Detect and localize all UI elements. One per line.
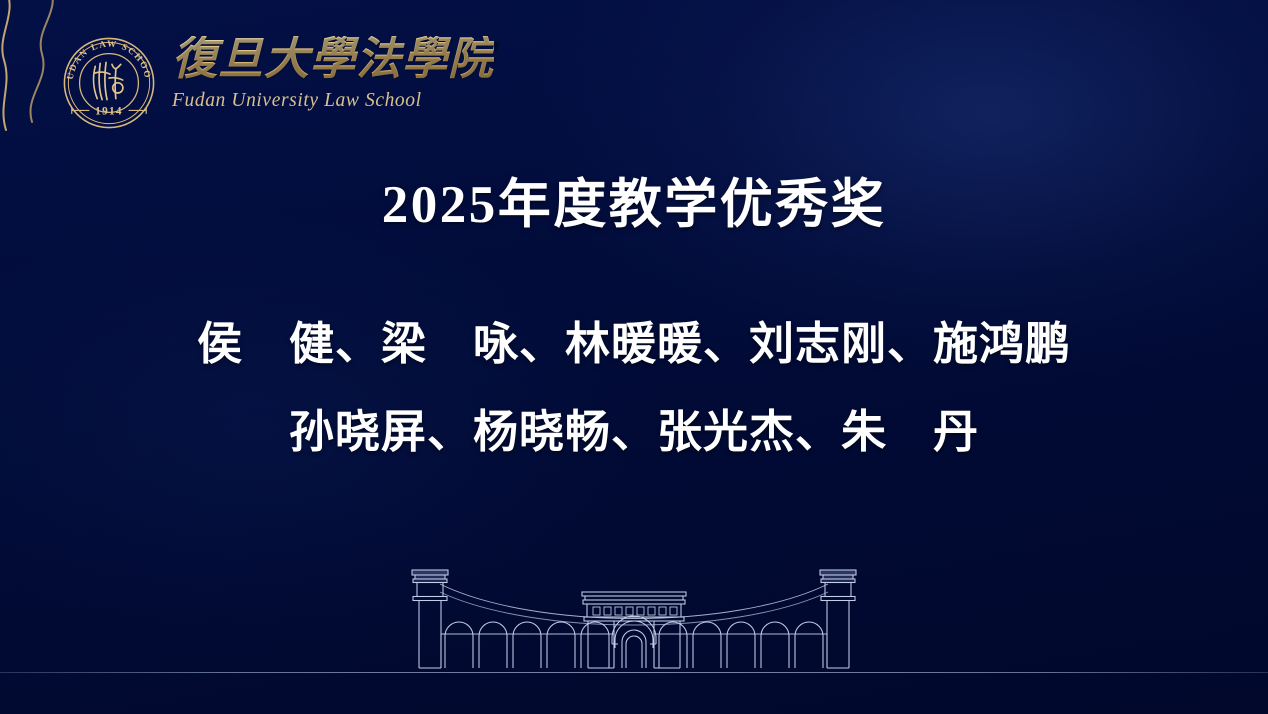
logo-english-name: Fudan University Law School [172, 90, 494, 112]
page-title: 2025年度教学优秀奖 [0, 176, 1268, 235]
award-slide: FUDAN LAW SCHOOL [0, 0, 1268, 714]
svg-text:1914: 1914 [95, 105, 123, 117]
recipients-list: 侯 健、梁 咏、林暖暖、刘志刚、施鸿鹏 孙晓屏、杨晓畅、张光杰、朱 丹 [0, 300, 1268, 476]
logo-text-block: 復旦大學法學院 Fudan University Law School [172, 32, 494, 112]
fudan-law-school-seal-icon: FUDAN LAW SCHOOL [60, 34, 158, 132]
ground-line-divider [0, 672, 1268, 673]
recipient-line: 孙晓屏、杨晓畅、张光杰、朱 丹 [0, 388, 1268, 476]
logo-chinese-name: 復旦大學法學院 [172, 36, 494, 83]
fudan-gate-colonnade-icon [384, 556, 884, 676]
logo-lockup: FUDAN LAW SCHOOL [60, 32, 494, 132]
recipient-line: 侯 健、梁 咏、林暖暖、刘志刚、施鸿鹏 [0, 300, 1268, 388]
